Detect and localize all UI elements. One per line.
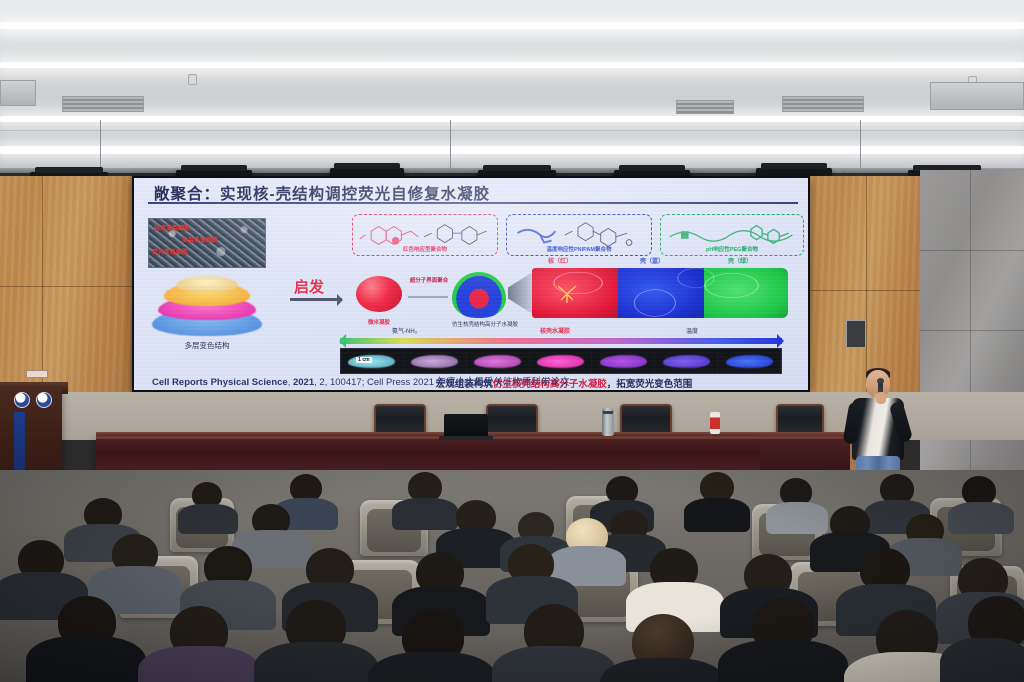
strip-frame [655, 349, 718, 373]
audience-shoulders [368, 652, 496, 682]
core-shell-particle [452, 272, 506, 318]
university-emblem [14, 392, 30, 408]
polymer-box-blue: 温度响应性PNIPAM聚合物 [506, 214, 652, 256]
ac-vent [62, 96, 144, 112]
process-arrow [290, 298, 342, 301]
strip-frame [592, 349, 655, 373]
audience-shoulders [138, 646, 260, 682]
gradient-label-right: 温度 [686, 326, 698, 335]
strip-frame [718, 349, 781, 373]
cylinder-label-shell-green: 壳（绿） [728, 256, 752, 265]
core-molecule-icon [552, 282, 582, 306]
wood-panel-seam [810, 290, 920, 291]
projected-slide: 敞聚合：实现核-壳结构调控荧光自修复水凝胶 核壳变色细胞 多层多变细胞 荧光变色… [134, 178, 808, 390]
core-shell-hydrogel-cylinder [532, 268, 788, 318]
panel-chair[interactable] [620, 404, 672, 434]
audience-shoulders [948, 502, 1014, 534]
assembly-label: 超分子界面聚合 [406, 276, 452, 284]
strip-frame [404, 349, 467, 373]
audience-shoulders [26, 636, 146, 682]
ceiling-light-strip [0, 62, 1024, 68]
cylinder-label-shell-blue: 壳（蓝） [640, 256, 664, 265]
caption-part-2: ，拓宽荧光变色范围 [607, 379, 693, 390]
audience-shoulders [600, 658, 726, 682]
lecture-hall-photo: 敞聚合：实现核-壳结构调控荧光自修复水凝胶 核壳变色细胞 多层多变细胞 荧光变色… [0, 0, 1024, 682]
multilayer-caption: 多层变色结构 [146, 340, 268, 351]
gradient-label-center: 核壳水凝胶 [540, 326, 570, 335]
ac-diffuser [0, 80, 36, 106]
polymer-box-label: pH响应性PEG聚合物 [661, 245, 803, 253]
citation-article: 100417 [330, 377, 362, 388]
thermos-flask[interactable] [602, 408, 614, 436]
strip-frame [467, 349, 530, 373]
polymer-box-label: 温度响应性PNIPAM聚合物 [507, 245, 651, 253]
microgel-sphere [356, 276, 402, 312]
citation-journal: Cell Reports Physical Science [152, 377, 288, 388]
ceiling-light-strip [0, 146, 1024, 154]
sprinkler-head [188, 74, 197, 85]
beverage-bottle[interactable] [710, 412, 720, 434]
truss-wire [860, 120, 861, 170]
scale-bar: 1 cm [356, 357, 372, 363]
laptop[interactable] [444, 414, 488, 436]
audience-shoulders [718, 640, 848, 682]
slide-title-underline [148, 202, 798, 204]
panel-chair[interactable] [374, 404, 426, 434]
ceiling-light-strip [0, 22, 1024, 29]
ac-diffuser [930, 82, 1024, 110]
audience-shoulders [392, 498, 458, 530]
right-wall-wood-panel [810, 176, 920, 424]
stone-seam [920, 330, 1024, 331]
wood-panel-seam [0, 286, 136, 287]
slide-citation: Cell Reports Physical Science, 2021, 2, … [152, 374, 570, 388]
podium-name-card [26, 370, 48, 378]
gradient-label-left: 氨气-NH₃ [392, 326, 417, 335]
polymer-box-green: pH响应性PEG聚合物 [660, 214, 804, 256]
multilayer-structure-illustration [146, 274, 268, 340]
strip-frame: 1 cm [341, 349, 404, 373]
citation-volume: 2 [319, 377, 324, 388]
stone-seam [920, 250, 1024, 251]
micrograph-label: 多层多变细胞 [182, 235, 218, 244]
projection-screen: 敞聚合：实现核-壳结构调控荧光自修复水凝胶 核壳变色细胞 多层多变细胞 荧光变色… [132, 176, 810, 392]
audience-shoulders [684, 498, 750, 532]
audience-shoulders [254, 642, 378, 682]
polymer-box-label: 红色响应型聚合物 [353, 245, 497, 253]
audience-shoulders [492, 646, 616, 682]
audience-area [0, 470, 1024, 682]
panel-chair[interactable] [486, 404, 538, 434]
ac-vent [782, 96, 864, 112]
assembly-arrow [408, 296, 448, 298]
audience-shoulders [178, 504, 238, 534]
slide-title: 敞聚合：实现核-壳结构调控荧光自修复水凝胶 [154, 182, 794, 202]
audience-shoulders [940, 638, 1024, 682]
fluorescence-photo-strip: 1 cm [340, 348, 782, 374]
citation-year: 2021 [293, 377, 314, 388]
ceiling-light-strip [0, 116, 1024, 122]
polymer-box-red: 红色响应型聚合物 [352, 214, 498, 256]
truss-wire [450, 120, 451, 170]
citation-award: Cell Press 2021 年度十大最受关注物质科学论文 [367, 377, 570, 388]
ac-vent [676, 100, 734, 114]
stimulus-gradient-axis [340, 338, 782, 344]
micrograph-label: 核壳变色细胞 [154, 223, 190, 232]
left-wall-wood-panel [0, 176, 136, 404]
presenter-hand [876, 392, 886, 404]
truss-wire [100, 120, 101, 170]
ceiling-seam [0, 130, 1024, 131]
micrograph-label: 荧光变色细胞 [152, 247, 188, 256]
strip-frame [530, 349, 593, 373]
microgel-label: 微米凝胶 [354, 318, 404, 326]
cylinder-label-core: 核（红） [548, 256, 572, 265]
product-label: 仿生核壳结构高分子水凝胶 [430, 320, 540, 328]
panel-chair[interactable] [776, 404, 824, 434]
university-emblem [36, 392, 52, 408]
audience-shoulders [766, 502, 828, 534]
trigger-label: 启发 [294, 276, 324, 297]
wall-vent [846, 320, 866, 348]
